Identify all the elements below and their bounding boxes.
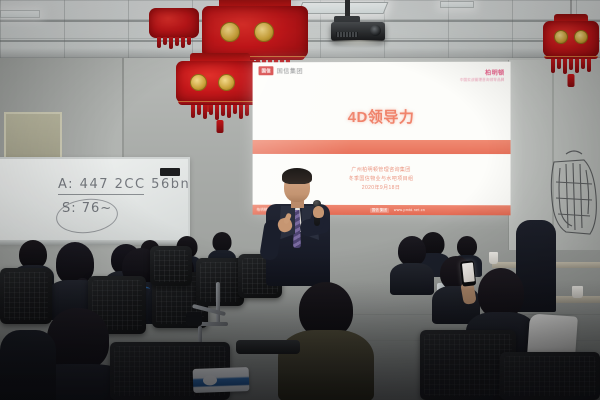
lantern-medallion — [554, 30, 568, 44]
chair[interactable] — [150, 246, 192, 286]
whiteboard-eraser[interactable] — [160, 168, 180, 176]
projector-glow — [330, 40, 388, 47]
lantern-body — [543, 21, 599, 57]
lantern-drop — [217, 120, 224, 133]
slide-title: 4D领导力 — [253, 106, 511, 127]
fluorescent-light-icon — [0, 10, 40, 18]
lantern-medallion — [574, 30, 588, 44]
cup — [572, 286, 583, 298]
lantern-body — [149, 8, 199, 38]
slide-footer-url: www.pmtd.net.cn — [394, 208, 425, 212]
audience-member — [0, 330, 56, 400]
chair-armrest — [236, 340, 300, 354]
tissue-pack-label — [203, 375, 217, 385]
slide-logo-right-sub: 中国实战管理咨询领导品牌 — [460, 77, 505, 82]
slide-logo-right-mark: 柏明顿 — [460, 68, 505, 77]
slide-logo-left: 国信 国信集团 — [259, 66, 303, 75]
slide-accent-band — [253, 140, 511, 154]
cup — [489, 252, 498, 264]
lantern-tassels — [191, 105, 249, 120]
slide-footer-badge: 国信 集团 — [370, 207, 389, 212]
slide-logo-left-mark: 国信 — [259, 66, 274, 75]
whiteboard[interactable]: A: 447 2CC 56bn S: 76~ — [0, 157, 190, 242]
chair[interactable] — [500, 352, 600, 400]
presenter — [258, 166, 344, 286]
lantern-medallion — [190, 74, 207, 91]
fluorescent-light-icon — [440, 1, 474, 8]
lantern-left — [142, 4, 206, 62]
lantern-tassels — [157, 37, 191, 49]
photo-scene: A: 447 2CC 56bn S: 76~ 国信 国信集团 柏明顿 中国实战管… — [0, 0, 600, 400]
wheelchair-footplate — [186, 312, 202, 326]
projector-lens-icon — [370, 25, 381, 36]
presenter-hand-right — [313, 206, 324, 218]
slide-logo-left-text: 国信集团 — [277, 66, 303, 75]
tissue-pack[interactable] — [193, 367, 250, 393]
projector-vent — [336, 32, 358, 37]
lantern-medallion — [218, 74, 235, 91]
door — [4, 112, 62, 160]
slide-logo-right: 柏明顿 中国实战管理咨询领导品牌 — [460, 68, 505, 83]
lantern-right — [542, 16, 600, 102]
lantern-tassels — [551, 59, 591, 74]
lantern-drop — [568, 74, 575, 87]
audience-member — [390, 236, 434, 292]
whiteboard-underline — [58, 194, 144, 195]
lantern-medallion — [220, 22, 240, 42]
lantern-medallion — [254, 22, 274, 42]
whiteboard-text-line1: A: 447 2CC 56bn — [58, 177, 190, 192]
presenter-glasses-icon — [285, 182, 309, 187]
